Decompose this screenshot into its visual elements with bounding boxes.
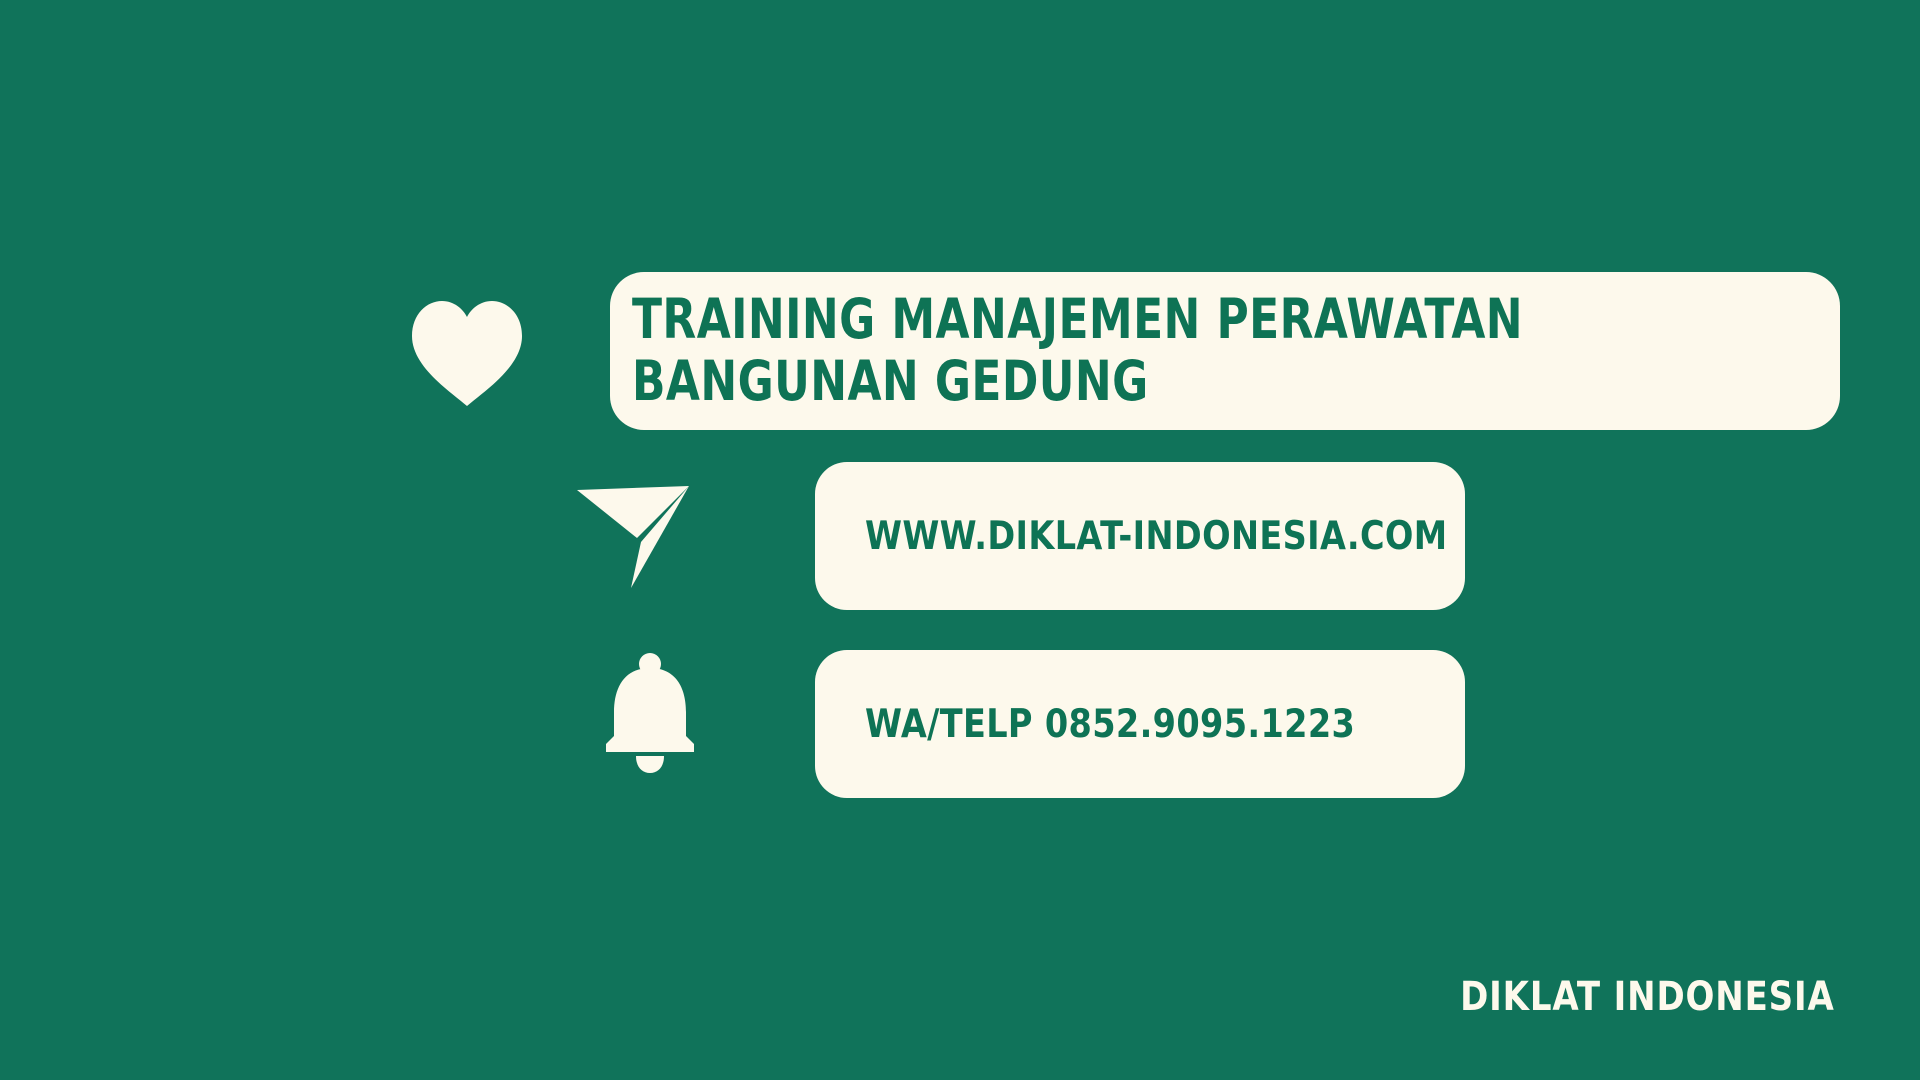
title-card: TRAINING MANAJEMEN PERAWATAN BANGUNAN GE… (610, 272, 1840, 430)
title-line-1: TRAINING MANAJEMEN PERAWATAN (632, 289, 1598, 351)
page-title: TRAINING MANAJEMEN PERAWATAN BANGUNAN GE… (632, 289, 1598, 412)
title-line-2: BANGUNAN GEDUNG (632, 351, 1598, 413)
phone-label: WA/TELP 0852.9095.1223 (865, 702, 1355, 747)
phone-card[interactable]: WA/TELP 0852.9095.1223 (815, 650, 1465, 798)
paper-plane-icon (575, 478, 693, 590)
bell-icon (600, 652, 700, 774)
website-card[interactable]: WWW.DIKLAT-INDONESIA.COM (815, 462, 1465, 610)
poster-canvas: TRAINING MANAJEMEN PERAWATAN BANGUNAN GE… (0, 0, 1920, 1080)
brand-label: DIKLAT INDONESIA (1460, 974, 1835, 1020)
heart-icon (408, 296, 526, 408)
website-label: WWW.DIKLAT-INDONESIA.COM (865, 514, 1448, 559)
